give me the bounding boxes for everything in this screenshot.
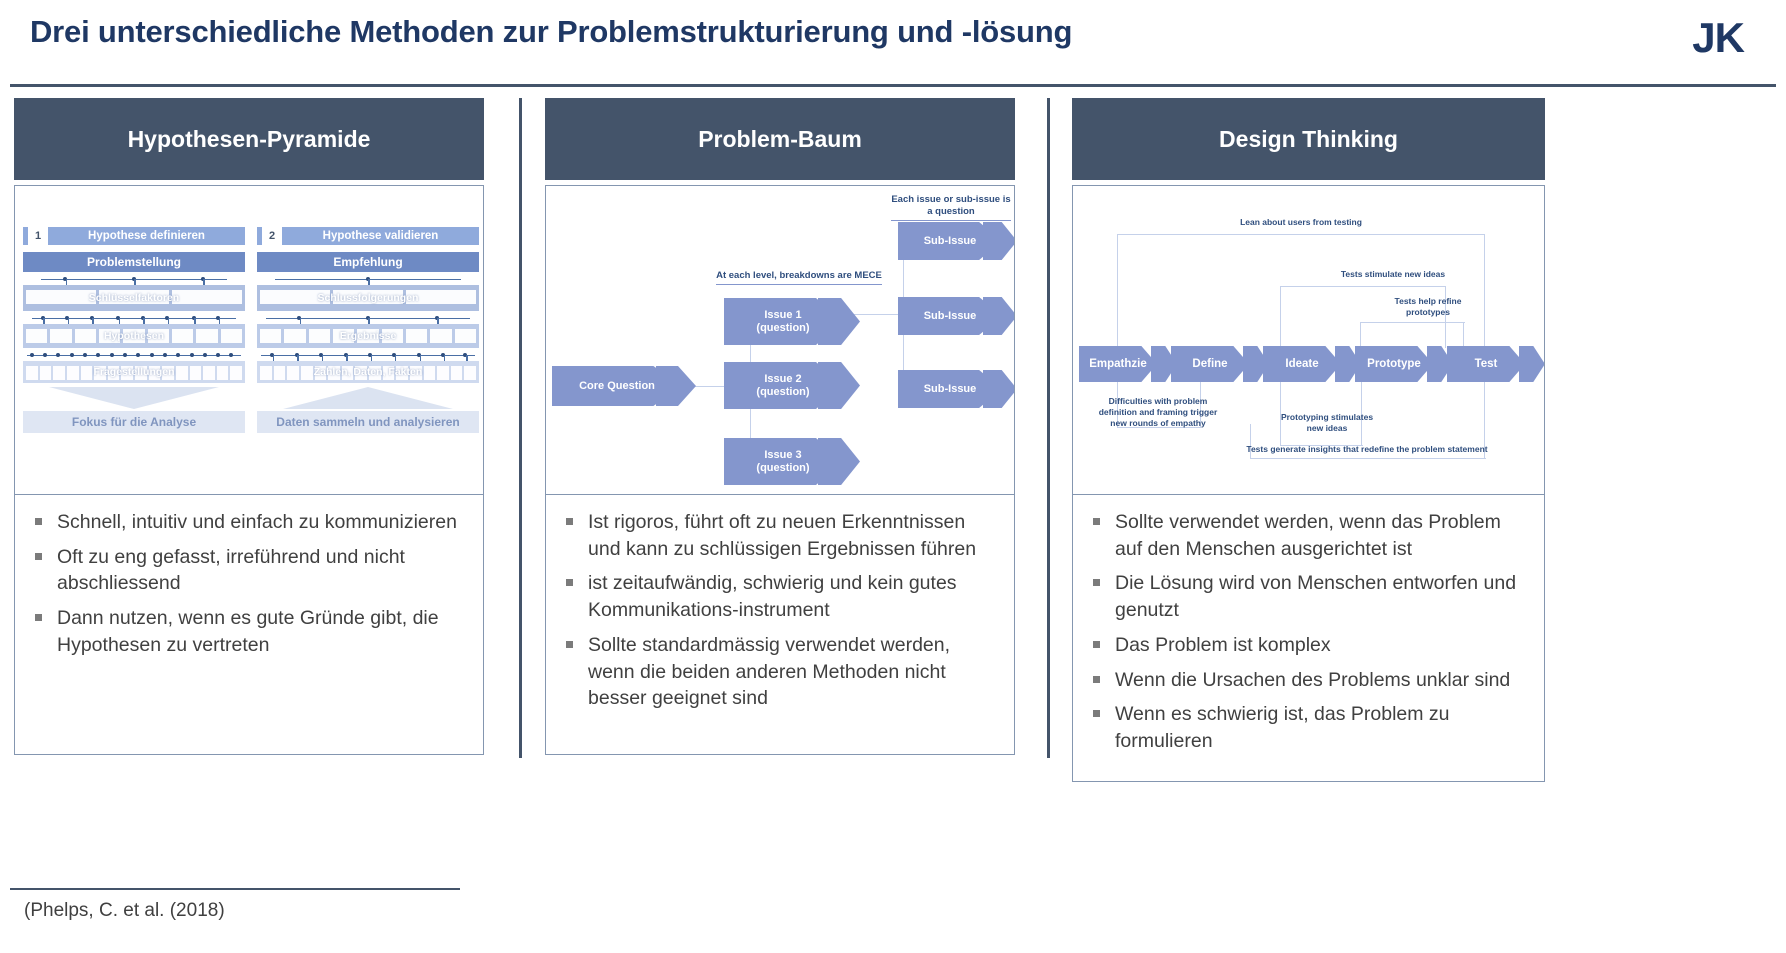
flow-stage-ideate: Ideate	[1263, 346, 1341, 382]
flow-line	[1117, 234, 1485, 235]
column-design-thinking: Design Thinking	[1072, 98, 1545, 782]
tree-chevron-icon	[818, 298, 860, 345]
flow-note-tests-stimulate: Tests stimulate new ideas	[1313, 269, 1473, 280]
list-item: ist zeitaufwändig, schwierig und kein gu…	[562, 570, 998, 623]
flow-stage-define: Define	[1171, 346, 1249, 382]
source-note: (Phelps, C. et al. (2018)	[24, 900, 225, 922]
flow-line	[1463, 322, 1464, 350]
pyramid-level-1-label: Schlüsselfaktoren	[23, 292, 245, 304]
pyramid-connector	[257, 351, 479, 361]
column-heading-2: Problem-Baum	[545, 98, 1015, 180]
pyramid-connector	[257, 314, 479, 324]
flow-chevron-icon	[1519, 346, 1545, 382]
pyramid-level-1: Schlussfolgerungen	[257, 285, 479, 311]
flow-line	[1250, 458, 1486, 459]
list-item: Oft zu eng gefasst, irreführend und nich…	[31, 544, 467, 597]
flow-line	[1360, 322, 1465, 323]
pyramid-connector	[257, 275, 479, 285]
slide: Drei unterschiedliche Methoden zur Probl…	[0, 0, 1786, 953]
pyramid-right-step: 2 Hypothese validieren	[257, 226, 479, 246]
pyramid-right-footer: Daten sammeln und analysieren	[257, 411, 479, 433]
pyramid-level-1: Schlüsselfaktoren	[23, 285, 245, 311]
flow-line	[1484, 234, 1485, 349]
tree-chevron-icon	[983, 370, 1015, 408]
column-heading-3: Design Thinking	[1072, 98, 1545, 180]
tree-note-question: Each issue or sub-issue is a question	[891, 194, 1011, 221]
tree-line	[849, 314, 904, 315]
header-divider	[10, 84, 1776, 87]
list-item: Sollte verwendet werden, wenn das Proble…	[1089, 509, 1528, 562]
pyramid-left-number: 1	[28, 230, 48, 242]
pyramid-right-top: Empfehlung	[257, 252, 479, 272]
column-problem-baum: Problem-Baum Core Question At	[545, 98, 1015, 755]
bullets-design-thinking: Sollte verwendet werden, wenn das Proble…	[1072, 495, 1545, 782]
pyramid-level-3: Zahlen, Daten, Fakten	[257, 361, 479, 383]
pyramid-level-2: Ergebnisse	[257, 324, 479, 348]
pyramid-connector	[23, 351, 245, 361]
tree-chevron-icon	[983, 222, 1015, 260]
pyramid-down-arrow-icon	[49, 387, 219, 409]
flow-note-insights: Tests generate insights that redefine th…	[1233, 444, 1501, 455]
pyramid-left-top: Problemstellung	[23, 252, 245, 272]
list-item: Schnell, intuitiv und einfach zu kommuni…	[31, 509, 467, 536]
bullets-hypothesen-pyramide: Schnell, intuitiv und einfach zu kommuni…	[14, 495, 484, 755]
pyramid-connector	[23, 314, 245, 324]
list-item: Die Lösung wird von Menschen entworfen u…	[1089, 570, 1528, 623]
flow-line	[1360, 322, 1361, 350]
tree-chevron-icon	[818, 362, 860, 409]
flow-note-difficulties: Difficulties with problem definition and…	[1097, 396, 1219, 429]
pyramid-right-number: 2	[262, 230, 282, 242]
list-item: Wenn es schwierig ist, das Problem zu fo…	[1089, 701, 1528, 754]
list-item: Wenn die Ursachen des Problems unklar si…	[1089, 667, 1528, 694]
list-item: Das Problem ist komplex	[1089, 632, 1528, 659]
pyramid-left: 1 Hypothese definieren Problemstellung S…	[23, 226, 245, 446]
bullets-problem-baum: Ist rigoros, führt oft zu neuen Erkenntn…	[545, 495, 1015, 755]
pyramid-left-footer: Fokus für die Analyse	[23, 411, 245, 433]
slide-header: Drei unterschiedliche Methoden zur Probl…	[0, 0, 1786, 90]
pyramid-right-step-label: Hypothese validieren	[282, 227, 479, 245]
pyramid-level-3: Fragestellungen	[23, 361, 245, 383]
design-thinking-diagram: Lean about users from testing Tests stim…	[1072, 185, 1545, 495]
footer-divider	[10, 888, 460, 890]
flow-note-prototyping: Prototyping stimulates new ideas	[1273, 412, 1381, 434]
pyramid-right: 2 Hypothese validieren Empfehlung Schlus…	[257, 226, 479, 446]
flow-line	[1280, 286, 1281, 348]
pyramid-left-step: 1 Hypothese definieren	[23, 226, 245, 246]
tree-chevron-icon	[656, 366, 696, 406]
pyramid-level-2-label: Ergebnisse	[257, 330, 479, 342]
page-title: Drei unterschiedliche Methoden zur Probl…	[30, 14, 1072, 50]
flow-line	[1280, 286, 1446, 287]
list-item: Ist rigoros, führt oft zu neuen Erkenntn…	[562, 509, 998, 562]
column-divider-1	[519, 98, 522, 758]
pyramid-level-3-label: Zahlen, Daten, Fakten	[257, 366, 479, 378]
column-divider-2	[1047, 98, 1050, 758]
pyramid-level-3-label: Fragestellungen	[23, 366, 245, 378]
flow-stage-prototype: Prototype	[1355, 346, 1433, 382]
list-item: Sollte standardmässig verwendet werden, …	[562, 632, 998, 712]
pyramid-up-arrow-icon	[283, 387, 453, 409]
pyramid-level-2-label: Hypothesen	[23, 330, 245, 342]
issue-tree-diagram: Core Question At each level, breakdowns …	[545, 185, 1015, 495]
pyramid-level-1-label: Schlussfolgerungen	[257, 292, 479, 304]
pyramid-diagram: 1 Hypothese definieren Problemstellung S…	[14, 185, 484, 495]
flow-stage-empathize: Empathzie	[1079, 346, 1157, 382]
flow-note-tests-refine: Tests help refine prototypes	[1373, 296, 1483, 318]
pyramid-left-step-label: Hypothese definieren	[48, 227, 245, 245]
tree-note-mece: At each level, breakdowns are MECE	[716, 270, 882, 285]
flow-line	[1117, 234, 1118, 348]
tree-chevron-icon	[983, 297, 1015, 335]
tree-chevron-icon	[818, 438, 860, 485]
column-heading-1: Hypothesen-Pyramide	[14, 98, 484, 180]
logo: JK	[1692, 14, 1744, 62]
column-hypothesen-pyramide: Hypothesen-Pyramide 1 Hypothese definier…	[14, 98, 484, 755]
pyramid-level-2: Hypothesen	[23, 324, 245, 348]
pyramid-connector	[23, 275, 245, 285]
flow-note-top: Lean about users from testing	[1188, 217, 1414, 228]
list-item: Dann nutzen, wenn es gute Gründe gibt, d…	[31, 605, 467, 658]
flow-stage-test: Test	[1447, 346, 1525, 382]
